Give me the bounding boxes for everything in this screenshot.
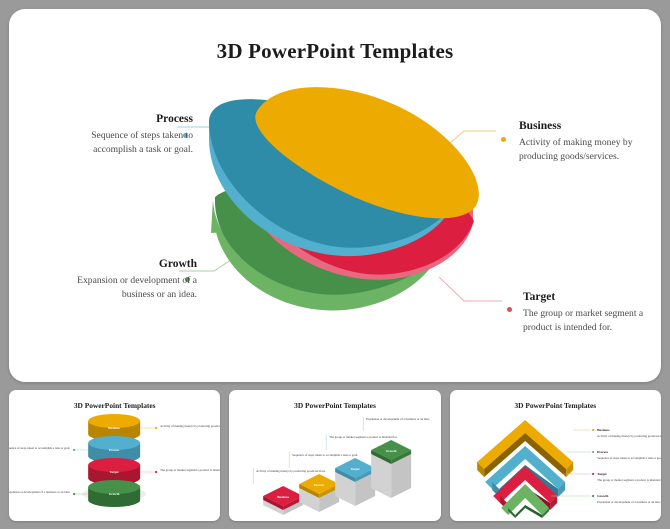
svg-text:Expansion or development of a: Expansion or development of a business o… [597, 500, 661, 504]
svg-text:Target: Target [351, 467, 361, 471]
callout-desc-process: Sequence of steps taken to accomplish a … [65, 129, 193, 156]
thumb3-legend-process: Process Sequence of steps taken to accom… [567, 450, 661, 460]
thumb1-note-target: The group or market segment a product is… [140, 468, 220, 473]
callout-desc-business: Activity of making money by producing go… [519, 136, 647, 163]
callout-title-process: Process [65, 112, 193, 126]
block-target: Target [335, 458, 375, 506]
thumbnail-art-stacked-cylinders: Business Process Target [9, 408, 220, 518]
slide-preview-page: 3D PowerPoint Templates [0, 0, 670, 529]
svg-text:Growth: Growth [109, 492, 120, 496]
thumb3-legend-target: Target The group or market segment a pro… [559, 472, 661, 482]
svg-text:Activity of making money by pr: Activity of making money by producing go… [256, 469, 326, 473]
svg-text:The group or market segment a: The group or market segment a product is… [160, 468, 220, 472]
thumb3-legend-growth: Growth Expansion or development of a bus… [551, 494, 661, 504]
svg-text:Sequence of steps taken to acc: Sequence of steps taken to accomplish a … [9, 446, 70, 450]
thumb1-note-business: Activity of making money by producing go… [140, 424, 220, 429]
thumb1-note-process: Sequence of steps taken to accomplish a … [9, 446, 88, 451]
callout-business[interactable]: Business Activity of making money by pro… [519, 119, 647, 164]
thumbnail-strip: 3D PowerPoint Templates Business Process [9, 390, 661, 521]
thumbnail-nested-chevrons[interactable]: 3D PowerPoint Templates [450, 390, 661, 521]
callout-desc-growth: Expansion or development of a business o… [69, 274, 197, 301]
svg-text:Expansion or development of a: Expansion or development of a business o… [9, 490, 70, 494]
thumb3-legend-business: Business Activity of making money by pro… [573, 428, 661, 438]
svg-text:Target: Target [110, 470, 120, 474]
connector-dot-target [507, 307, 512, 312]
thumbnail-art-nested-chevrons: Business Activity of making money by pro… [450, 408, 661, 518]
svg-text:Business: Business [597, 428, 610, 432]
callout-desc-target: The group or market segment a product is… [523, 307, 651, 334]
svg-text:The group or market segment a: The group or market segment a product is… [597, 478, 661, 482]
thumbnail-art-ascending-blocks: Business Process [229, 408, 440, 518]
callout-title-target: Target [523, 290, 651, 304]
svg-text:Sequence of steps taken to acc: Sequence of steps taken to accomplish a … [292, 453, 358, 457]
svg-text:Business: Business [278, 495, 290, 499]
svg-text:Target: Target [597, 472, 607, 476]
thumbnail-ascending-blocks[interactable]: 3D PowerPoint Templates Business [229, 390, 440, 521]
callout-title-growth: Growth [69, 257, 197, 271]
callout-title-business: Business [519, 119, 647, 133]
svg-text:Activity of making money by pr: Activity of making money by producing go… [597, 434, 661, 438]
svg-text:The group or market segment a: The group or market segment a product is… [329, 435, 397, 439]
svg-text:Sequence of steps taken to acc: Sequence of steps taken to accomplish a … [597, 456, 661, 460]
thumbnail-stacked-cylinders[interactable]: 3D PowerPoint Templates Business Process [9, 390, 220, 521]
callout-growth[interactable]: Growth Expansion or development of a bus… [69, 257, 197, 302]
connector-dot-business [501, 137, 506, 142]
block-growth: Growth [371, 440, 411, 498]
svg-text:Process: Process [314, 483, 325, 487]
block-process: Process [299, 474, 339, 512]
callout-target[interactable]: Target The group or market segment a pro… [523, 290, 651, 335]
sliced-3d-sphere-graphic [195, 81, 485, 331]
page-title: 3D PowerPoint Templates [9, 39, 661, 64]
svg-text:Growth: Growth [597, 494, 608, 498]
thumb1-note-growth: Expansion or development of a business o… [9, 490, 88, 495]
callout-process[interactable]: Process Sequence of steps taken to accom… [65, 112, 193, 157]
svg-text:Activity of making money by pr: Activity of making money by producing go… [160, 424, 220, 428]
block-business: Business [263, 486, 303, 515]
main-slide-card[interactable]: 3D PowerPoint Templates [9, 9, 661, 382]
svg-text:Process: Process [597, 450, 609, 454]
svg-text:Business: Business [108, 426, 120, 430]
cylinder-growth: Growth [88, 480, 140, 507]
svg-text:Expansion or development of a: Expansion or development of a business o… [366, 417, 430, 421]
svg-text:Process: Process [109, 448, 120, 452]
svg-text:Growth: Growth [386, 449, 397, 453]
thumb2-note-growth: Expansion or development of a business o… [363, 417, 430, 431]
